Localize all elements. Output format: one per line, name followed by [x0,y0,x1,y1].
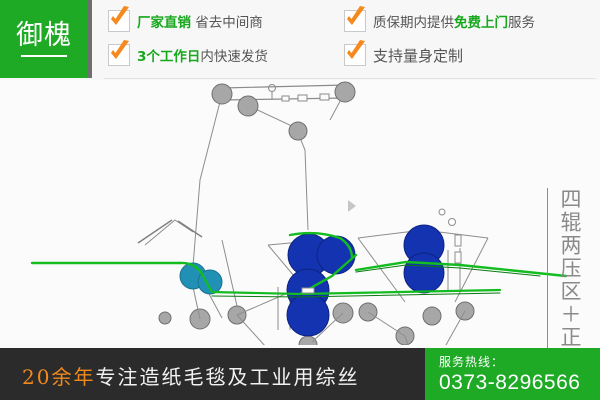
hotline-label: 服务热线： [439,353,600,370]
check-icon [108,44,130,66]
promo-banner-page: 御槐 厂家直销 省去中间商 质保期内提供免费上门服务 [0,0,600,400]
guide-roll-left-small [159,312,171,324]
frame-block-1 [298,95,307,101]
brand-logo-text: 御槐 [16,21,72,51]
header-divider [104,78,596,79]
feature-label-fast-ship: 3个工作日内快速发货 [137,45,268,65]
lead-in-rolls [180,263,222,294]
footer-bar: 20余年专注造纸毛毯及工业用综丝 服务热线： 0373-8296566 [0,348,600,400]
feature-item-customization: 支持量身定制 [344,44,463,66]
flow-arrow-icon [348,200,356,212]
feature-highlight-fast-ship: 3个工作日 [137,49,200,65]
web-long-run [203,276,500,294]
brand-logo-underline [21,55,67,57]
press-roll-top-right [317,236,355,274]
guide-roll-top-right [335,82,355,102]
footer-slogan-panel: 20余年专注造纸毛毯及工业用综丝 [0,348,425,400]
caption-text: 四辊两压区＋正压 [557,188,582,372]
guide-roll-top-left [212,84,232,104]
feature-label-customization: 支持量身定制 [373,45,463,66]
frame-eyelet [269,85,276,92]
brand-logo[interactable]: 御槐 [0,0,88,78]
feature-row-bottom: 3个工作日内快速发货 支持量身定制 [108,44,477,66]
tension-pulley-4 [449,219,456,226]
guide-roll-mid-descend [289,122,307,140]
tension-box-4 [455,252,461,263]
press-roll-bottom [287,294,329,336]
guide-roll-right-lower [423,307,441,325]
feature-post-free-service: 服务 [508,15,535,31]
feature-highlight-factory-direct: 厂家直销 [137,15,191,31]
web-right-run [356,262,566,276]
feature-rest-fast-ship: 内快速发货 [200,49,268,65]
feature-highlight-free-service: 免费上门 [454,15,508,31]
nip-indicator [302,288,314,293]
footer-slogan-highlight: 20余年 [22,365,95,389]
hotline-number[interactable]: 0373-8296566 [439,371,600,395]
feature-label-free-service: 质保期内提供免费上门服务 [373,11,535,31]
check-icon [344,44,366,66]
feature-item-fast-ship: 3个工作日内快速发货 [108,44,330,66]
frame-clip-1 [282,96,289,101]
tension-box-3 [455,235,461,246]
logo-edge-divider [88,0,92,78]
feature-pre-free-service: 质保期内提供 [373,15,454,31]
footer-slogan: 20余年专注造纸毛毯及工业用综丝 [22,361,359,390]
feature-rest-factory-direct: 省去中间商 [191,15,263,31]
check-icon [108,10,130,32]
press-roll-right-lower [404,253,444,293]
check-icon [344,10,366,32]
feature-item-free-service: 质保期内提供免费上门服务 [344,10,535,32]
frame-block-2 [320,94,329,100]
press-section-diagram: 四辊两压区＋正压 [0,80,600,345]
header-bar: 御槐 厂家直销 省去中间商 质保期内提供免费上门服务 [0,0,600,80]
tension-pulley-3 [439,209,445,215]
feature-label-factory-direct: 厂家直销 省去中间商 [137,11,263,31]
footer-hotline-panel[interactable]: 服务热线： 0373-8296566 [425,348,600,400]
guide-roll-upper-mid [238,96,258,116]
feature-item-factory-direct: 厂家直销 省去中间商 [108,10,330,32]
footer-slogan-rest: 专注造纸毛毯及工业用综丝 [95,365,359,389]
feature-row-top: 厂家直销 省去中间商 质保期内提供免费上门服务 [108,10,549,32]
